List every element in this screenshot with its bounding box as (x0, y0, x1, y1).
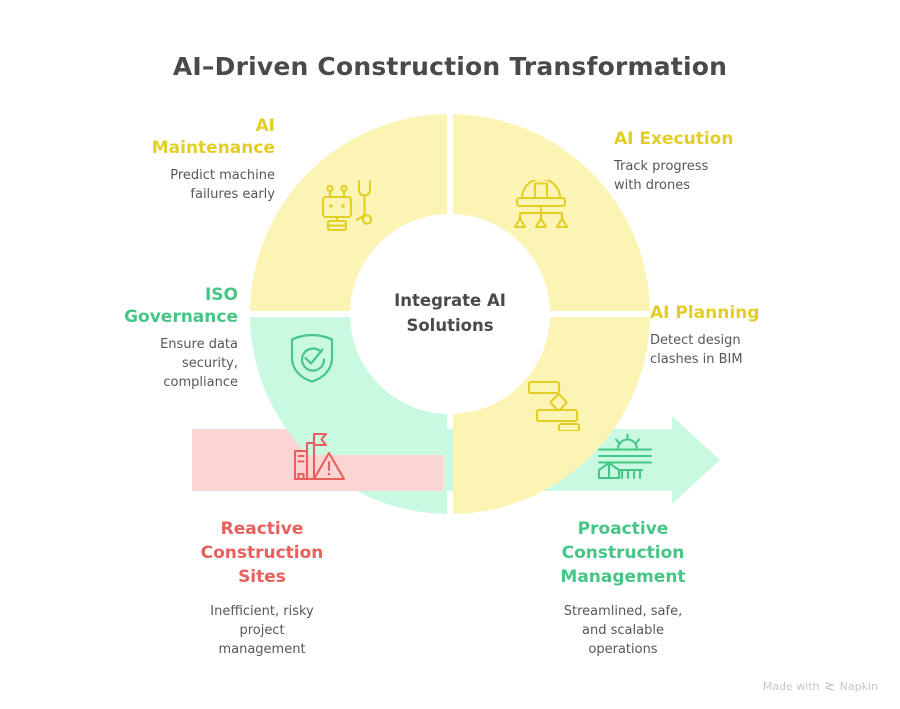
heading-line: ISO (100, 284, 238, 306)
center-label-line2: Solutions (350, 313, 550, 338)
heading-line: Proactive (522, 517, 724, 541)
label-proactive-construction-management[interactable]: Proactive Construction Management Stream… (522, 517, 724, 659)
infographic-canvas: AI–Driven Construction Transformation In… (0, 0, 900, 709)
gantt-chart-icon (526, 379, 588, 431)
body-line: management (162, 640, 362, 659)
label-ai-maintenance-body: Predict machine failures early (95, 166, 275, 204)
body-line: project (162, 621, 362, 640)
napkin-logo-icon (824, 681, 836, 693)
label-ai-maintenance-heading-line1: AI (95, 115, 275, 137)
center-label-line1: Integrate AI (350, 288, 550, 313)
body-line: Ensure data (100, 335, 238, 354)
label-iso-governance-heading: ISO Governance (100, 284, 238, 328)
label-ai-planning-heading: AI Planning (650, 302, 850, 324)
label-proactive-heading: Proactive Construction Management (522, 517, 724, 589)
watermark-prefix: Made with (763, 680, 820, 693)
body-line: Predict machine (95, 166, 275, 185)
label-ai-execution[interactable]: AI Execution Track progress with drones (614, 128, 814, 195)
label-ai-maintenance-heading-line2: Maintenance (95, 137, 275, 159)
hardhat-hierarchy-icon (510, 180, 572, 232)
heading-line: Construction (522, 541, 724, 565)
robot-wrench-icon (319, 177, 381, 233)
label-reactive-heading: Reactive Construction Sites (162, 517, 362, 589)
heading-line: Construction (162, 541, 362, 565)
body-line: with drones (614, 176, 814, 195)
watermark-brand: Napkin (840, 680, 878, 693)
label-ai-maintenance[interactable]: AI Maintenance Predict machine failures … (95, 115, 275, 204)
body-line: failures early (95, 185, 275, 204)
body-line: Streamlined, safe, (522, 602, 724, 621)
heading-line: Management (522, 565, 724, 589)
heading-line: Reactive (162, 517, 362, 541)
body-line: and scalable (522, 621, 724, 640)
label-ai-execution-heading: AI Execution (614, 128, 814, 150)
page-title: AI–Driven Construction Transformation (0, 52, 900, 81)
farm-sunrise-icon (596, 434, 654, 480)
body-line: operations (522, 640, 724, 659)
label-proactive-body: Streamlined, safe, and scalable operatio… (522, 602, 724, 659)
body-line: Inefficient, risky (162, 602, 362, 621)
label-iso-governance-body: Ensure data security, compliance (100, 335, 238, 392)
shield-check-icon (288, 332, 336, 384)
label-reactive-body: Inefficient, risky project management (162, 602, 362, 659)
label-iso-governance[interactable]: ISO Governance Ensure data security, com… (100, 284, 238, 392)
label-ai-planning[interactable]: AI Planning Detect design clashes in BIM (650, 302, 850, 369)
buildings-warning-icon (292, 432, 346, 482)
label-reactive-construction-sites[interactable]: Reactive Construction Sites Inefficient,… (162, 517, 362, 659)
body-line: Track progress (614, 157, 814, 176)
center-label: Integrate AI Solutions (350, 288, 550, 338)
label-ai-planning-body: Detect design clashes in BIM (650, 331, 850, 369)
watermark[interactable]: Made with Napkin (763, 680, 878, 693)
ring-overlay-iso-governance (250, 317, 447, 514)
body-line: clashes in BIM (650, 350, 850, 369)
body-line: compliance (100, 373, 238, 392)
heading-line: Sites (162, 565, 362, 589)
body-line: security, (100, 354, 238, 373)
body-line: Detect design (650, 331, 850, 350)
heading-line: Governance (100, 306, 238, 328)
label-ai-execution-body: Track progress with drones (614, 157, 814, 195)
label-ai-maintenance-heading: AI Maintenance (95, 115, 275, 159)
